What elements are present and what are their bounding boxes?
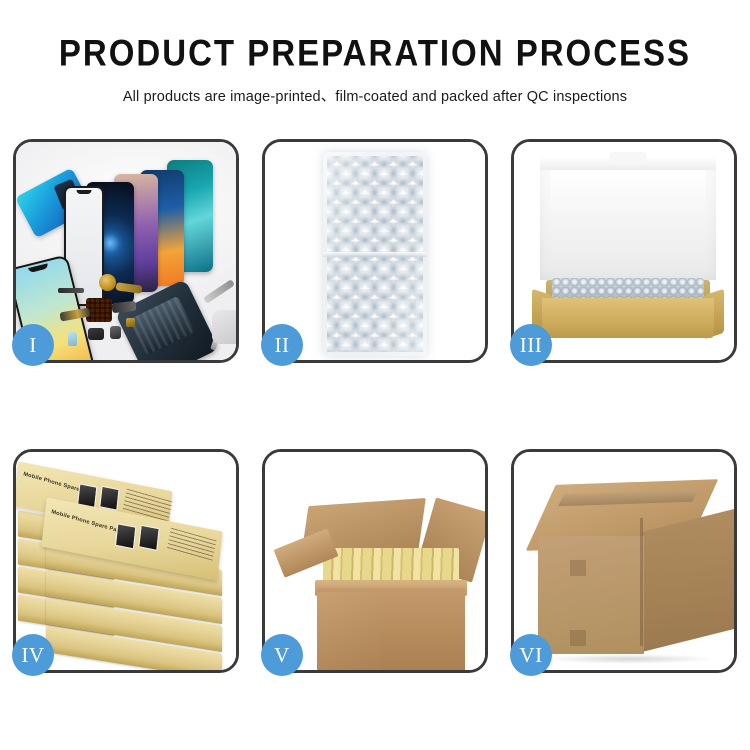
open-carton-scene	[265, 452, 485, 670]
box-tray-front	[542, 298, 714, 338]
page-header: PRODUCT PREPARATION PROCESS All products…	[0, 0, 750, 106]
box-lid-tab	[610, 152, 646, 164]
box-phone-print-2a	[115, 523, 136, 549]
step-image-3	[514, 142, 734, 360]
camera-module-icon	[110, 326, 121, 339]
step-panel-2: II	[262, 139, 488, 363]
stacked-boxes-scene: Mobile Phone Spare Parts Mobile Phone Sp…	[16, 452, 236, 670]
copper-coil-icon	[99, 274, 116, 291]
earpiece-bar-icon	[58, 288, 84, 293]
pouch-sheen	[323, 152, 427, 356]
step-panel-3: III	[511, 139, 737, 363]
carton-hand-hole-bottom	[570, 630, 586, 646]
process-steps-grid: I II	[13, 139, 737, 673]
step-badge-6: VI	[510, 634, 552, 676]
step-badge-4: IV	[12, 634, 54, 676]
step-badge-1: I	[12, 324, 54, 366]
hand-icon	[212, 310, 236, 344]
speaker-module-icon	[88, 328, 104, 340]
open-kraft-box-scene	[514, 142, 734, 360]
carton-corner-seam	[640, 518, 643, 646]
carton-right-face	[642, 508, 734, 652]
step-image-6	[514, 452, 734, 670]
step-panel-4: Mobile Phone Spare Parts Mobile Phone Sp…	[13, 449, 239, 673]
small-part-2-icon	[126, 318, 135, 327]
bubble-wrap-scene	[265, 142, 485, 360]
phone-parts-scene	[16, 142, 236, 360]
step-panel-6: VI	[511, 449, 737, 673]
step-panel-1: I	[13, 139, 239, 363]
step-badge-5: V	[261, 634, 303, 676]
connector-grid-icon	[86, 298, 112, 322]
page-title: PRODUCT PREPARATION PROCESS	[0, 34, 750, 73]
step-image-4: Mobile Phone Spare Parts Mobile Phone Sp…	[16, 452, 236, 670]
sealed-carton-scene	[514, 452, 734, 670]
small-part-1-icon	[68, 332, 77, 346]
box-phone-print-2b	[138, 525, 159, 551]
carton-shadow	[544, 654, 716, 664]
step-image-2	[265, 142, 485, 360]
box-lid-icon	[540, 158, 716, 280]
box-brand-text-2: Mobile Phone Spare Parts	[51, 509, 125, 535]
page-subtitle: All products are image-printed、film-coat…	[0, 85, 750, 106]
bubble-wrap-pouch-icon	[323, 152, 427, 356]
step-image-5	[265, 452, 485, 670]
step-panel-5: V	[262, 449, 488, 673]
step-image-1	[16, 142, 236, 360]
step-badge-2: II	[261, 324, 303, 366]
step-badge-3: III	[510, 324, 552, 366]
box-phone-print-1b	[99, 486, 119, 511]
carton-hand-hole-top	[570, 560, 586, 576]
carton-left-face	[538, 536, 644, 654]
carton-front-left-face	[317, 592, 383, 670]
box-spec-lines-2	[167, 528, 217, 562]
